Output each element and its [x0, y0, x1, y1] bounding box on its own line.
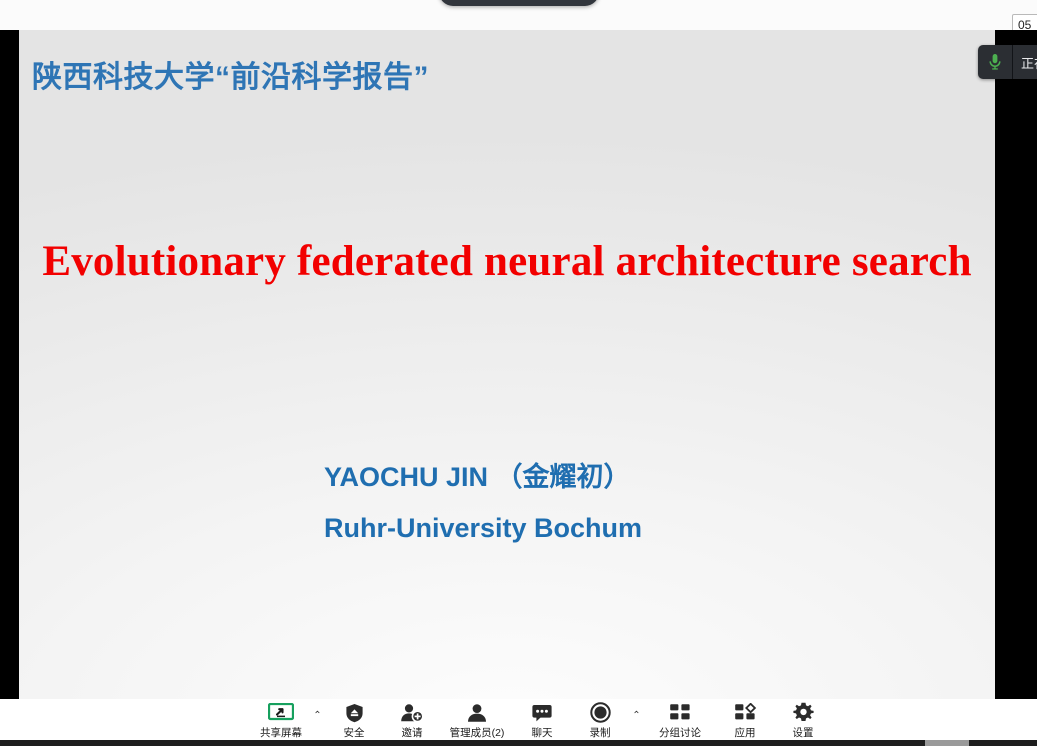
zoom-meeting-window: 会议控制栏 05 陕西科技大学“前沿科学报告” Evolutionary fed…: [0, 0, 1037, 746]
toolbar-button-breakout-rooms[interactable]: 分组讨论: [644, 699, 716, 740]
meeting-toolbar: 共享屏幕 ⌃ 安全: [0, 699, 1037, 740]
toolbar-button-record[interactable]: 录制: [571, 699, 629, 740]
os-taskbar[interactable]: [0, 740, 1037, 746]
apps-grid-icon: [733, 702, 757, 723]
toolbar-label-share-screen: 共享屏幕: [260, 725, 302, 740]
toolbar-button-manage-members[interactable]: 管理成员(2): [441, 699, 513, 740]
shared-screen-stage[interactable]: 陕西科技大学“前沿科学报告” Evolutionary federated ne…: [0, 30, 1037, 699]
floating-meeting-controls-pill[interactable]: 会议控制栏: [439, 0, 599, 6]
record-caret-icon[interactable]: ⌃: [629, 711, 644, 721]
toolbar-button-apps[interactable]: 应用: [716, 699, 774, 740]
toolbar-button-settings[interactable]: 设置: [774, 699, 832, 740]
toolbar-label-settings: 设置: [793, 725, 814, 740]
caret-up-glyph: ⌃: [313, 710, 321, 721]
slide-author-name: YAOCHU JIN （金耀初）: [324, 455, 924, 494]
slide-main-title: Evolutionary federated neural architectu…: [19, 237, 995, 286]
toolbar-button-chat[interactable]: 聊天: [513, 699, 571, 740]
toolbar-button-security[interactable]: 安全: [325, 699, 383, 740]
person-add-icon: [400, 702, 424, 723]
toolbar-label-invite: 邀请: [402, 725, 423, 740]
toolbar-button-invite[interactable]: 邀请: [383, 699, 441, 740]
toolbar-label-record: 录制: [590, 725, 611, 740]
active-speaker-badge[interactable]: 正在讲话: [978, 45, 1037, 79]
presentation-slide: 陕西科技大学“前沿科学报告” Evolutionary federated ne…: [19, 30, 995, 699]
toolbar-label-security: 安全: [344, 725, 365, 740]
breakout-grid-icon: [668, 702, 692, 723]
record-circle-icon: [590, 702, 611, 723]
toolbar-button-share-screen[interactable]: 共享屏幕: [252, 699, 310, 740]
toolbar-label-breakout-rooms: 分组讨论: [659, 725, 701, 740]
toolbar-label-manage-members: 管理成员(2): [450, 725, 505, 740]
person-icon: [466, 702, 488, 723]
caret-up-glyph: ⌃: [632, 710, 640, 721]
toolbar-label-apps: 应用: [735, 725, 756, 740]
share-screen-caret-icon[interactable]: ⌃: [310, 711, 325, 721]
chat-bubble-icon: [531, 702, 553, 723]
slide-header-title: 陕西科技大学“前沿科学报告”: [32, 52, 429, 96]
slide-affiliation: Ruhr-University Bochum: [324, 513, 924, 544]
gear-icon: [793, 702, 814, 723]
microphone-icon: [978, 45, 1012, 79]
shield-icon: [345, 702, 364, 723]
active-speaker-label: 正在讲话: [1013, 53, 1037, 72]
taskbar-item-1[interactable]: [925, 740, 969, 746]
screen-share-icon: [268, 702, 294, 723]
toolbar-label-chat: 聊天: [532, 725, 553, 740]
